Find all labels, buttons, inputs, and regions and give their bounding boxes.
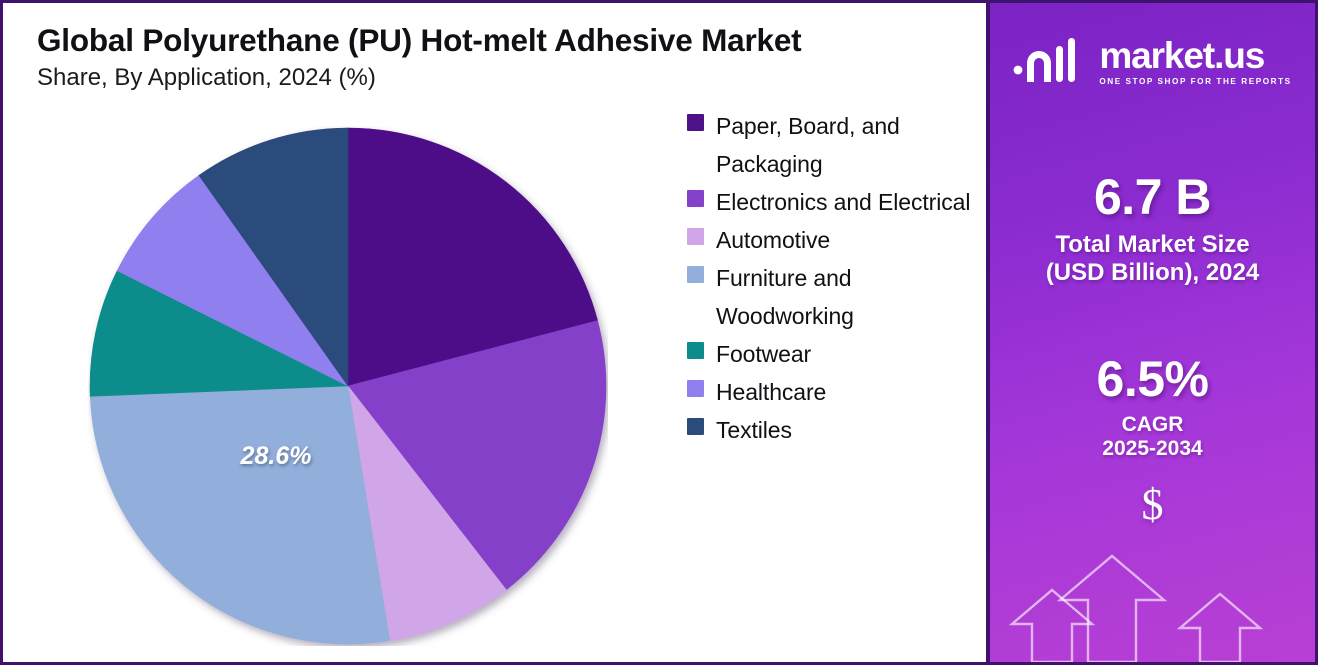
brand-text-block: market.us ONE STOP SHOP FOR THE REPORTS <box>1099 38 1291 86</box>
cagr-value: 6.5% <box>990 353 1315 406</box>
legend-item-label: Footwear <box>716 335 811 373</box>
total-market-size-caption: Total Market Size (USD Billion), 2024 <box>990 231 1315 288</box>
legend-item-label: Automotive <box>716 221 830 259</box>
total-market-size-value: 6.7 B <box>990 171 1315 224</box>
brand-logo[interactable]: market.us ONE STOP SHOP FOR THE REPORTS <box>990 36 1315 88</box>
pie-chart-svg: 28.6% <box>88 126 608 646</box>
infographic-root: Global Polyurethane (PU) Hot-melt Adhesi… <box>0 0 1318 665</box>
legend-item[interactable]: Automotive <box>687 221 983 259</box>
chart-legend: Paper, Board, and PackagingElectronics a… <box>687 107 983 449</box>
legend-swatch-icon <box>687 418 704 435</box>
chart-heading-group: Global Polyurethane (PU) Hot-melt Adhesi… <box>37 23 957 93</box>
stat-cagr: 6.5% CAGR 2025-2034 <box>990 353 1315 462</box>
legend-swatch-icon <box>687 342 704 359</box>
total-market-size-caption-line2: (USD Billion), 2024 <box>990 259 1315 287</box>
cagr-caption: CAGR 2025-2034 <box>990 413 1315 463</box>
growth-arrows-icon <box>990 482 1318 662</box>
legend-item-label: Electronics and Electrical <box>716 183 970 221</box>
cagr-caption-line1: CAGR <box>990 413 1315 438</box>
total-market-size-caption-line1: Total Market Size <box>990 231 1315 259</box>
legend-swatch-icon <box>687 228 704 245</box>
cagr-caption-line2: 2025-2034 <box>990 437 1315 462</box>
page-title: Global Polyurethane (PU) Hot-melt Adhesi… <box>37 23 957 58</box>
legend-item[interactable]: Paper, Board, and Packaging <box>687 107 983 183</box>
legend-item[interactable]: Footwear <box>687 335 983 373</box>
pie-slice-value-label: 28.6% <box>240 442 312 470</box>
pie-slice-group <box>90 128 606 644</box>
legend-swatch-icon <box>687 380 704 397</box>
growth-arrows-graphic <box>990 482 1315 662</box>
legend-item-label: Healthcare <box>716 373 826 411</box>
brand-tagline: ONE STOP SHOP FOR THE REPORTS <box>1099 77 1291 86</box>
legend-item-label: Paper, Board, and Packaging <box>716 107 983 183</box>
legend-item-label: Furniture and Woodworking <box>716 259 983 335</box>
legend-swatch-icon <box>687 190 704 207</box>
brand-name: market.us <box>1099 38 1291 74</box>
stat-total-market-size: 6.7 B Total Market Size (USD Billion), 2… <box>990 171 1315 287</box>
chart-panel: Global Polyurethane (PU) Hot-melt Adhesi… <box>0 0 988 665</box>
pie-chart: 28.6% <box>88 126 608 646</box>
legend-swatch-icon <box>687 114 704 131</box>
page-subtitle: Share, By Application, 2024 (%) <box>37 64 957 93</box>
market-us-logo-icon <box>1013 36 1087 88</box>
legend-item[interactable]: Electronics and Electrical <box>687 183 983 221</box>
brand-sidebar: market.us ONE STOP SHOP FOR THE REPORTS … <box>988 0 1318 665</box>
legend-item-label: Textiles <box>716 411 792 449</box>
legend-item[interactable]: Textiles <box>687 411 983 449</box>
legend-item[interactable]: Furniture and Woodworking <box>687 259 983 335</box>
legend-swatch-icon <box>687 266 704 283</box>
pie-slice[interactable] <box>90 386 390 644</box>
legend-item[interactable]: Healthcare <box>687 373 983 411</box>
